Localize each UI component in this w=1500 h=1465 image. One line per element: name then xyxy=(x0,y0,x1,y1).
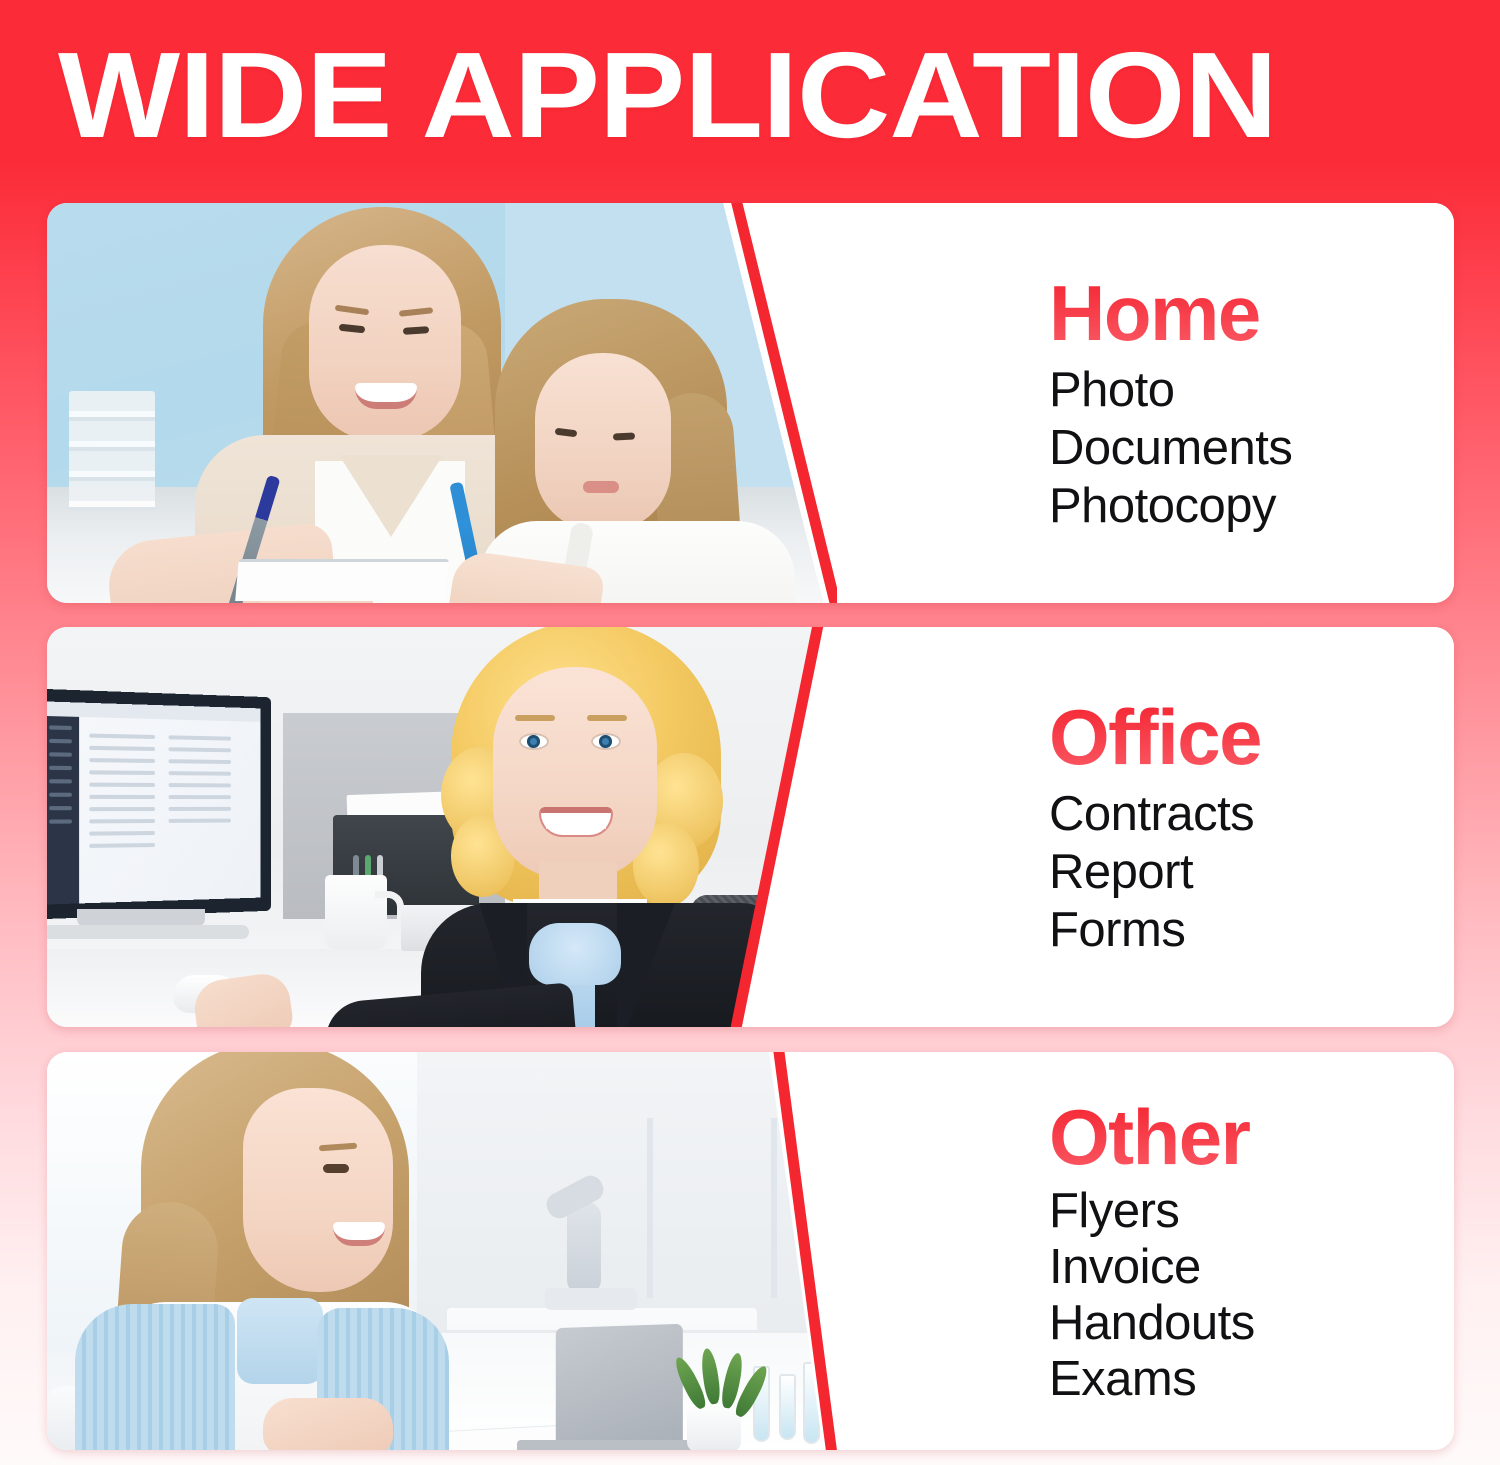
text-pane-home: Home Photo Documents Photocopy xyxy=(837,203,1454,603)
worker-blue-bow xyxy=(529,923,621,985)
category-title-office: Office xyxy=(1049,695,1454,779)
laptop-keyboard xyxy=(517,1440,707,1450)
list-item: Flyers xyxy=(1049,1183,1454,1239)
worker-eyebrow-left xyxy=(515,715,555,721)
lab-woman-clasped-hands xyxy=(263,1398,393,1450)
books-stack xyxy=(69,391,155,511)
notebook xyxy=(235,559,449,601)
monitor-base xyxy=(47,925,249,939)
lab-woman-blouse xyxy=(237,1298,323,1384)
list-item: Photocopy xyxy=(1049,477,1454,535)
list-item: Forms xyxy=(1049,901,1454,959)
woman-v-neckline xyxy=(339,455,443,537)
photo-office xyxy=(47,627,837,1027)
application-card-office: Office Contracts Report Forms xyxy=(47,627,1454,1027)
photo-home xyxy=(47,203,837,603)
woman-face xyxy=(309,245,461,441)
worker-smile xyxy=(539,807,613,837)
category-list-home: Photo Documents Photocopy xyxy=(1049,361,1454,535)
blue-cardigan-left xyxy=(75,1304,235,1450)
girl-mouth xyxy=(583,481,619,493)
lab-woman-eye xyxy=(323,1164,349,1173)
worker-eyebrow-right xyxy=(587,715,627,721)
text-pane-other: Other Flyers Invoice Handouts Exams xyxy=(847,1052,1454,1450)
worker-lapel-right xyxy=(617,903,675,1027)
screen-text-column-right xyxy=(169,727,231,890)
category-title-home: Home xyxy=(1049,271,1454,355)
list-item: Photo xyxy=(1049,361,1454,419)
lab-woman-face xyxy=(243,1088,393,1292)
screen-sidebar xyxy=(47,716,79,905)
page-title: WIDE APPLICATION xyxy=(58,34,1277,156)
laptop-screen xyxy=(556,1324,683,1450)
test-tube xyxy=(779,1374,796,1440)
microscope-arm xyxy=(567,1202,601,1294)
girl-eye-right xyxy=(613,432,635,440)
list-item: Handouts xyxy=(1049,1295,1454,1351)
list-item: Documents xyxy=(1049,419,1454,477)
plant-pot xyxy=(687,1404,741,1450)
category-title-other: Other xyxy=(1049,1095,1454,1179)
category-list-office: Contracts Report Forms xyxy=(1049,785,1454,959)
lab-shelf xyxy=(647,1118,777,1298)
photo-other xyxy=(47,1052,847,1450)
header-banner: WIDE APPLICATION xyxy=(0,0,1500,203)
worker-pupil-left xyxy=(527,735,540,748)
screen-text-column-left xyxy=(89,725,155,893)
girl-face xyxy=(535,353,671,531)
list-item: Exams xyxy=(1049,1351,1454,1407)
woman-smile xyxy=(355,383,417,409)
list-item: Contracts xyxy=(1049,785,1454,843)
list-item: Report xyxy=(1049,843,1454,901)
monitor-screen xyxy=(47,701,260,904)
microscope-base xyxy=(545,1288,637,1310)
test-tube xyxy=(803,1362,820,1444)
application-card-other: Other Flyers Invoice Handouts Exams xyxy=(47,1052,1454,1450)
coffee-mug xyxy=(325,875,387,949)
list-item: Invoice xyxy=(1049,1239,1454,1295)
worker-pupil-right xyxy=(599,735,612,748)
category-list-other: Flyers Invoice Handouts Exams xyxy=(1049,1183,1454,1407)
application-card-home: Home Photo Documents Photocopy xyxy=(47,203,1454,603)
worker-face xyxy=(493,667,657,879)
text-pane-office: Office Contracts Report Forms xyxy=(837,627,1454,1027)
